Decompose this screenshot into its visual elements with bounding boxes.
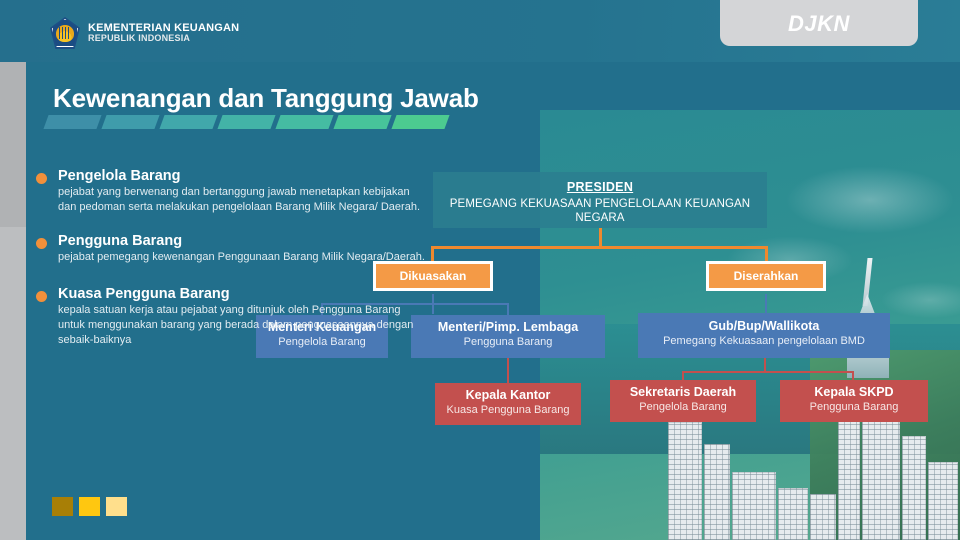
- connector-president-bus: [431, 246, 768, 249]
- swatch-2: [106, 497, 127, 516]
- chevron-decoration: [46, 115, 447, 129]
- bullet-body: pejabat pemegang kewenangan Penggunaan B…: [58, 250, 426, 265]
- chevron-0: [43, 115, 101, 129]
- bullet-dot-icon: [36, 173, 47, 184]
- chevron-4: [275, 115, 333, 129]
- connector-diserahkan-stem: [765, 294, 767, 314]
- bullet-body: pejabat yang berwenang dan bertanggung j…: [58, 185, 426, 215]
- node-title: Diserahkan: [734, 269, 799, 283]
- chevron-6: [391, 115, 449, 129]
- djkn-tab[interactable]: DJKN: [720, 0, 918, 46]
- node-title: Kepala Kantor: [435, 388, 581, 402]
- bullet-dot-icon: [36, 291, 47, 302]
- chevron-5: [333, 115, 391, 129]
- connector-gub-bus: [682, 371, 854, 373]
- slide-canvas: DJKN KEMENTERIAN KEUANGAN REPUBLIK INDON…: [0, 0, 960, 540]
- node-kepala-kantor: Kepala Kantor Kuasa Pengguna Barang: [435, 383, 581, 425]
- ministry-name-line2: REPUBLIK INDONESIA: [88, 34, 239, 43]
- list-item: Pengelola Barang pejabat yang berwenang …: [36, 168, 426, 215]
- node-title: Menteri/Pimp. Lembaga: [411, 320, 605, 334]
- ministry-logo: KEMENTERIAN KEUANGAN REPUBLIK INDONESIA: [50, 17, 239, 49]
- djkn-tab-label: DJKN: [788, 11, 850, 37]
- bullet-dot-icon: [36, 238, 47, 249]
- garuda-shield-icon: [50, 17, 80, 49]
- node-subtitle: Pengguna Barang: [780, 401, 928, 413]
- node-title: Kepala SKPD: [780, 385, 928, 399]
- node-sekretaris-daerah: Sekretaris Daerah Pengelola Barang: [610, 380, 756, 422]
- list-item: Kuasa Pengguna Barang kepala satuan kerj…: [36, 286, 426, 349]
- node-subtitle: Pengelola Barang: [610, 401, 756, 413]
- node-title: Gub/Bup/Wallikota: [638, 319, 890, 333]
- swatch-1: [79, 497, 100, 516]
- node-subtitle: PEMEGANG KEKUASAAN PENGELOLAAN KEUANGAN …: [433, 197, 767, 226]
- node-subtitle: Pemegang Kekuasaan pengelolaan BMD: [638, 335, 890, 347]
- definition-list: Pengelola Barang pejabat yang berwenang …: [36, 168, 426, 366]
- node-presiden: PRESIDEN PEMEGANG KEKUASAAN PENGELOLAAN …: [433, 172, 767, 228]
- bullet-heading: Pengelola Barang: [58, 168, 426, 184]
- color-swatches: [52, 497, 127, 516]
- node-menteri-pimpinan-lembaga: Menteri/Pimp. Lembaga Pengguna Barang: [411, 315, 605, 358]
- node-subtitle: Pengguna Barang: [411, 336, 605, 348]
- node-gubernur-bupati-walikota: Gub/Bup/Wallikota Pemegang Kekuasaan pen…: [638, 313, 890, 358]
- node-subtitle: Kuasa Pengguna Barang: [435, 404, 581, 416]
- connector-kepala-kantor: [507, 358, 509, 384]
- chevron-2: [159, 115, 217, 129]
- connector-president-stem: [599, 228, 602, 246]
- connector-gub-stem: [764, 358, 766, 372]
- node-diserahkan[interactable]: Diserahkan: [706, 261, 826, 291]
- page-title: Kewenangan dan Tanggung Jawab: [53, 83, 479, 114]
- bullet-body: kepala satuan kerja atau pejabat yang di…: [58, 303, 426, 349]
- node-kepala-skpd: Kepala SKPD Pengguna Barang: [780, 380, 928, 422]
- chevron-3: [217, 115, 275, 129]
- chevron-1: [101, 115, 159, 129]
- bullet-heading: Pengguna Barang: [58, 233, 426, 249]
- bullet-heading: Kuasa Pengguna Barang: [58, 286, 426, 302]
- node-title: Sekretaris Daerah: [610, 385, 756, 399]
- swatch-0: [52, 497, 73, 516]
- node-title: PRESIDEN: [433, 180, 767, 194]
- list-item: Pengguna Barang pejabat pemegang kewenan…: [36, 233, 426, 265]
